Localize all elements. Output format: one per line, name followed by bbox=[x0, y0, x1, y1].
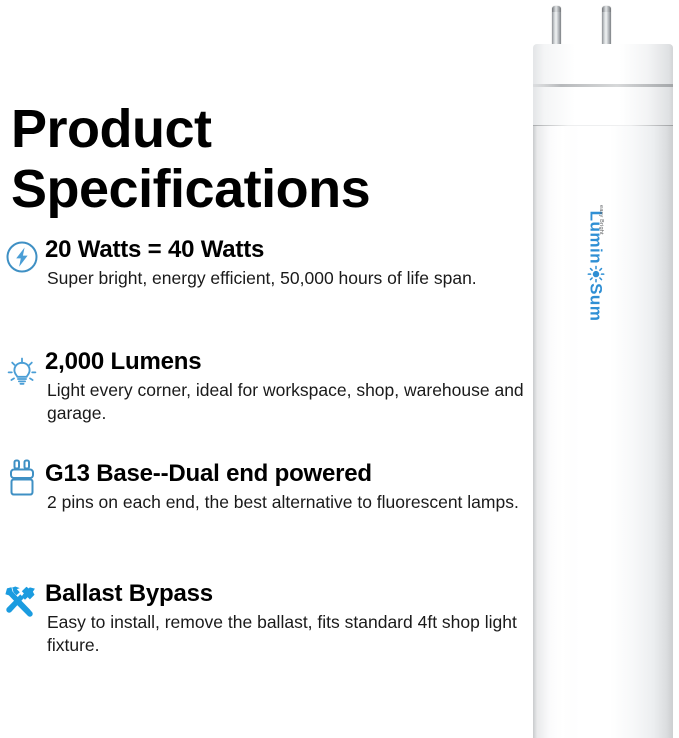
feature-item-ballast-bypass: Ballast Bypass Easy to install, remove t… bbox=[0, 579, 540, 699]
feature-item-wattage: 20 Watts = 40 Watts Super bright, energy… bbox=[0, 235, 540, 347]
tube-cap-seam bbox=[533, 84, 673, 87]
light-bulb-icon bbox=[5, 355, 39, 391]
feature-description: Easy to install, remove the ballast, fit… bbox=[45, 611, 540, 657]
page-title: Product Specifications bbox=[11, 99, 481, 219]
product-image-led-tube: Lumin Sum easy bbox=[520, 0, 679, 738]
bi-pin-lamp-base-icon bbox=[5, 459, 39, 495]
tube-pin-right bbox=[602, 6, 611, 48]
brand-tagline: easy Bright bbox=[598, 205, 604, 235]
feature-item-base: G13 Base--Dual end powered 2 pins on eac… bbox=[0, 459, 540, 579]
hammer-wrench-tools-icon bbox=[5, 586, 39, 622]
tube-pin-left bbox=[552, 6, 561, 48]
lightning-bolt-circle-icon bbox=[5, 240, 39, 276]
brand-logo: Lumin Sum bbox=[584, 196, 608, 336]
feature-title: Ballast Bypass bbox=[45, 579, 540, 609]
feature-item-lumens: 2,000 Lumens Light every corner, ideal f… bbox=[0, 347, 540, 459]
specifications-panel: Product Specifications 20 Watts = 40 Wat… bbox=[0, 0, 540, 738]
feature-description: 2 pins on each end, the best alternative… bbox=[45, 491, 540, 514]
feature-description: Super bright, energy efficient, 50,000 h… bbox=[45, 267, 540, 290]
feature-description: Light every corner, ideal for workspace,… bbox=[45, 379, 540, 425]
feature-list: 20 Watts = 40 Watts Super bright, energy… bbox=[0, 233, 540, 699]
tube-highlight bbox=[550, 126, 576, 738]
feature-title: 2,000 Lumens bbox=[45, 347, 540, 377]
feature-title: G13 Base--Dual end powered bbox=[45, 459, 540, 489]
feature-title: 20 Watts = 40 Watts bbox=[45, 235, 540, 265]
brand-name-part-two: Sum bbox=[588, 283, 605, 321]
sun-icon bbox=[588, 265, 605, 282]
